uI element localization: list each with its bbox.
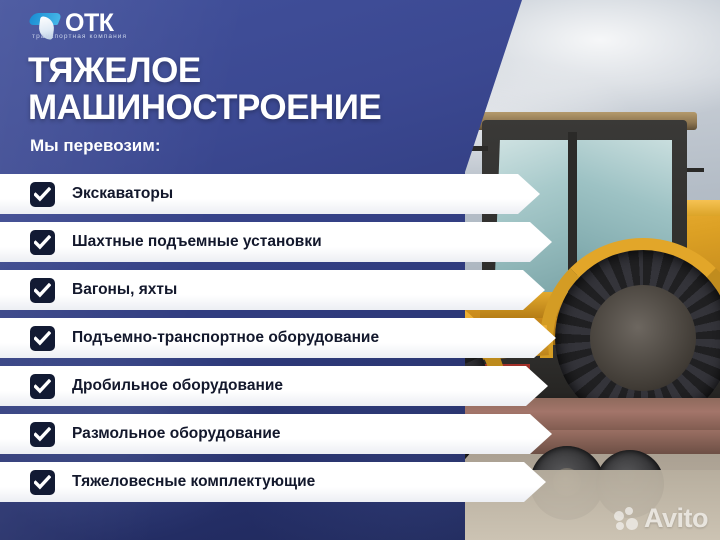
list-item[interactable]: Дробильное оборудование <box>0 366 600 406</box>
loader-rear-wheel-hub <box>590 285 696 391</box>
list-item[interactable]: Подъемно-транспортное оборудование <box>0 318 600 358</box>
avito-wordmark: Avito <box>644 505 708 532</box>
list-item[interactable]: Тяжеловесные комплектующие <box>0 462 600 502</box>
advertisement-banner: CAT 966 ОТК т <box>0 0 720 540</box>
check-icon[interactable] <box>30 470 55 495</box>
check-icon[interactable] <box>30 374 55 399</box>
headline-line-2: МАШИНОСТРОЕНИЕ <box>28 89 498 126</box>
list-item[interactable]: Размольное оборудование <box>0 414 600 454</box>
subheading: Мы перевозим: <box>30 136 161 156</box>
list-item-label: Размольное оборудование <box>72 414 281 454</box>
check-icon[interactable] <box>30 422 55 447</box>
check-icon[interactable] <box>30 278 55 303</box>
list-item-label: Вагоны, яхты <box>72 270 177 310</box>
list-item[interactable]: Шахтные подъемные установки <box>0 222 600 262</box>
check-icon[interactable] <box>30 326 55 351</box>
list-item-label: Дробильное оборудование <box>72 366 283 406</box>
page-title: ТЯЖЕЛОЕ МАШИНОСТРОЕНИЕ <box>28 52 498 126</box>
avito-dots-logo-icon <box>614 507 638 531</box>
list-item-label: Экскаваторы <box>72 174 173 214</box>
check-icon[interactable] <box>30 182 55 207</box>
avito-watermark: Avito <box>614 505 708 532</box>
list-item-label: Подъемно-транспортное оборудование <box>72 318 379 358</box>
list-item[interactable]: Вагоны, яхты <box>0 270 600 310</box>
services-list: ЭкскаваторыШахтные подъемные установкиВа… <box>0 174 600 510</box>
logo-tagline: транспортная компания <box>32 33 127 41</box>
headline-line-1: ТЯЖЕЛОЕ <box>28 52 498 89</box>
list-item-label: Тяжеловесные комплектующие <box>72 462 315 502</box>
check-icon[interactable] <box>30 230 55 255</box>
list-item[interactable]: Экскаваторы <box>0 174 600 214</box>
list-item-label: Шахтные подъемные установки <box>72 222 322 262</box>
